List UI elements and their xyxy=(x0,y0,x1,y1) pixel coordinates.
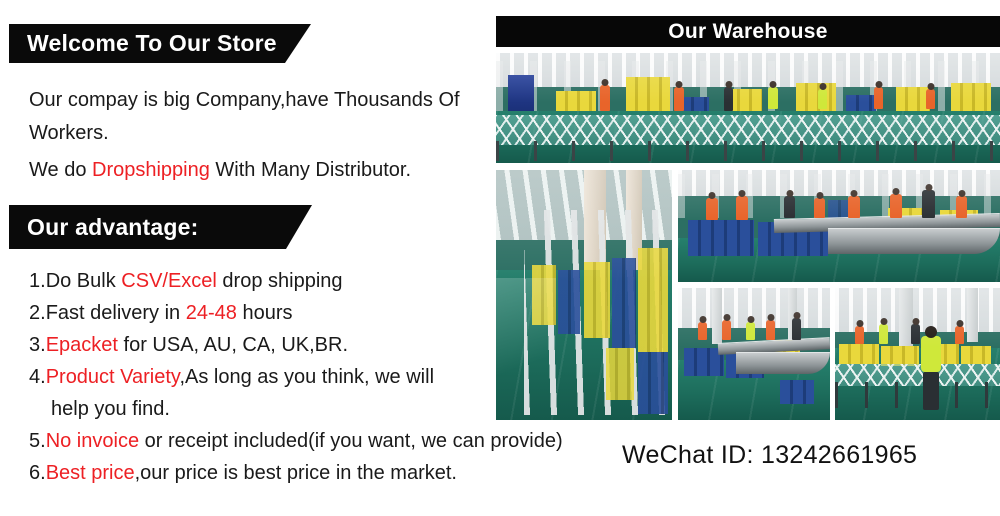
warehouse-photo-worker-yellow-bins xyxy=(835,288,1000,420)
welcome-banner: Welcome To Our Store xyxy=(9,24,311,63)
warehouse-banner: Our Warehouse xyxy=(496,16,1000,47)
item-highlight: No invoice xyxy=(46,430,139,452)
item-post: drop shipping xyxy=(217,270,343,292)
item-highlight: Best price xyxy=(46,462,135,484)
dropshipping-line: We do Dropshipping With Many Distributor… xyxy=(29,154,411,187)
intro-line-1: Our compay is big Company,have Thousands… xyxy=(29,84,499,117)
promo-banner-page: Welcome To Our Store Our compay is big C… xyxy=(0,0,1000,516)
item-number: 1. xyxy=(29,270,46,292)
item-highlight: CSV/Excel xyxy=(121,270,217,292)
item-pre: Do Bulk xyxy=(46,270,122,292)
warehouse-photo-packing-line xyxy=(678,288,830,420)
item-number: 5. xyxy=(29,430,46,452)
item-post: ,our price is best price in the market. xyxy=(135,462,457,484)
intro-line-2: Workers. xyxy=(29,117,499,150)
warehouse-photo-storage-racks-aisle xyxy=(496,170,672,420)
dropshipping-suffix: With Many Distributor. xyxy=(210,159,411,181)
welcome-banner-label: Welcome To Our Store xyxy=(27,30,277,57)
dropshipping-highlight: Dropshipping xyxy=(92,159,210,181)
item-post: ,As long as you think, we will xyxy=(179,366,434,388)
item-number: 2. xyxy=(29,302,46,324)
warehouse-photo-wide-conveyor-line xyxy=(496,53,1000,163)
item-number: 3. xyxy=(29,334,46,356)
item-number: 6. xyxy=(29,462,46,484)
warehouse-photo-sorting-conveyor-workers xyxy=(678,170,1000,282)
item-number: 4. xyxy=(29,366,46,388)
advantage-banner-label: Our advantage: xyxy=(27,214,199,241)
list-item: 5.No invoice or receipt included(if you … xyxy=(29,425,649,457)
wechat-id-text: WeChat ID: 13242661965 xyxy=(622,441,917,470)
item-post: for USA, AU, CA, UK,BR. xyxy=(118,334,348,356)
advantage-banner: Our advantage: xyxy=(9,205,312,249)
item-highlight: 24-48 xyxy=(186,302,237,324)
item-post: hours xyxy=(237,302,293,324)
item-pre: Fast delivery in xyxy=(46,302,186,324)
list-item: 6.Best price,our price is best price in … xyxy=(29,457,649,489)
intro-paragraph: Our compay is big Company,have Thousands… xyxy=(29,84,499,150)
item-highlight: Epacket xyxy=(46,334,118,356)
item-highlight: Product Variety xyxy=(46,366,180,388)
dropshipping-prefix: We do xyxy=(29,159,92,181)
warehouse-banner-label: Our Warehouse xyxy=(668,20,827,44)
item-post: or receipt included(if you want, we can … xyxy=(139,430,563,452)
